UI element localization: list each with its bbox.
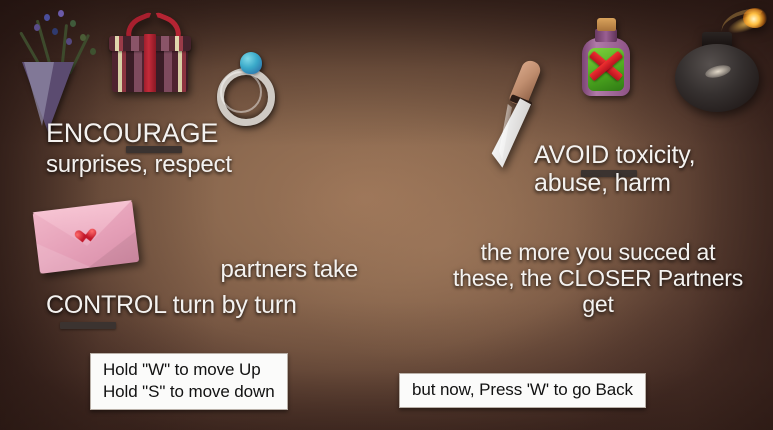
game-tutorial-screen: ENCOURAGE surprises, respect AVOID toxic… <box>0 0 773 430</box>
control-line-2: CONTROL turn by turn <box>46 291 297 319</box>
avoid-line-1: AVOID toxicity, <box>534 141 695 169</box>
poison-bottle-icon <box>575 18 637 100</box>
movement-controls-callout: Hold "W" to move Up Hold "S" to move dow… <box>90 353 288 410</box>
bouquet-icon <box>4 4 108 130</box>
gift-box-icon <box>104 14 198 102</box>
control-underline-marker <box>60 322 116 329</box>
encourage-subtext: surprises, respect <box>46 152 232 179</box>
control-line-1: partners take <box>221 257 358 284</box>
go-back-prompt-callout[interactable]: but now, Press 'W' to go Back <box>399 373 646 408</box>
ring-icon <box>210 48 274 118</box>
closer-message: the more you succed at these, the CLOSER… <box>448 240 748 317</box>
bomb-icon <box>665 8 769 114</box>
love-letter-icon <box>33 200 140 274</box>
avoid-line-2: abuse, harm <box>534 169 671 197</box>
encourage-heading: ENCOURAGE <box>46 118 218 148</box>
heart-seal-icon <box>77 229 94 245</box>
